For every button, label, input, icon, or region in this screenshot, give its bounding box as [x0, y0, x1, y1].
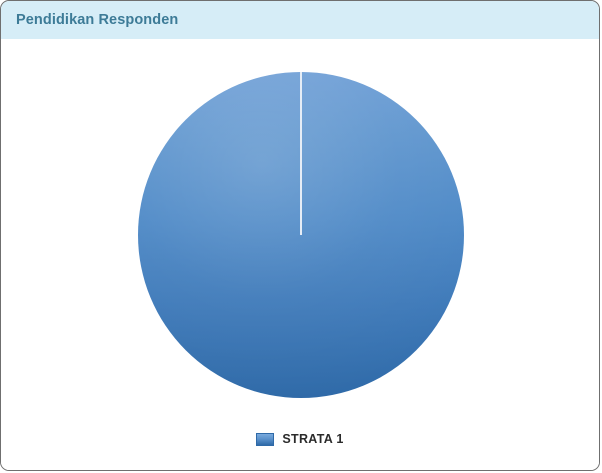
chart-area: STRATA 1	[1, 39, 599, 471]
legend-item-label: STRATA 1	[282, 432, 343, 446]
pie-chart	[1, 39, 599, 471]
card-header: Pendidikan Responden	[1, 1, 599, 39]
chart-card: Pendidikan Responden	[0, 0, 600, 471]
legend-swatch-strata-1	[256, 433, 274, 446]
page-title: Pendidikan Responden	[16, 12, 178, 28]
pie-chart-svg	[1, 39, 600, 471]
legend-item[interactable]: STRATA 1	[256, 432, 343, 446]
chart-legend: STRATA 1	[1, 432, 599, 446]
